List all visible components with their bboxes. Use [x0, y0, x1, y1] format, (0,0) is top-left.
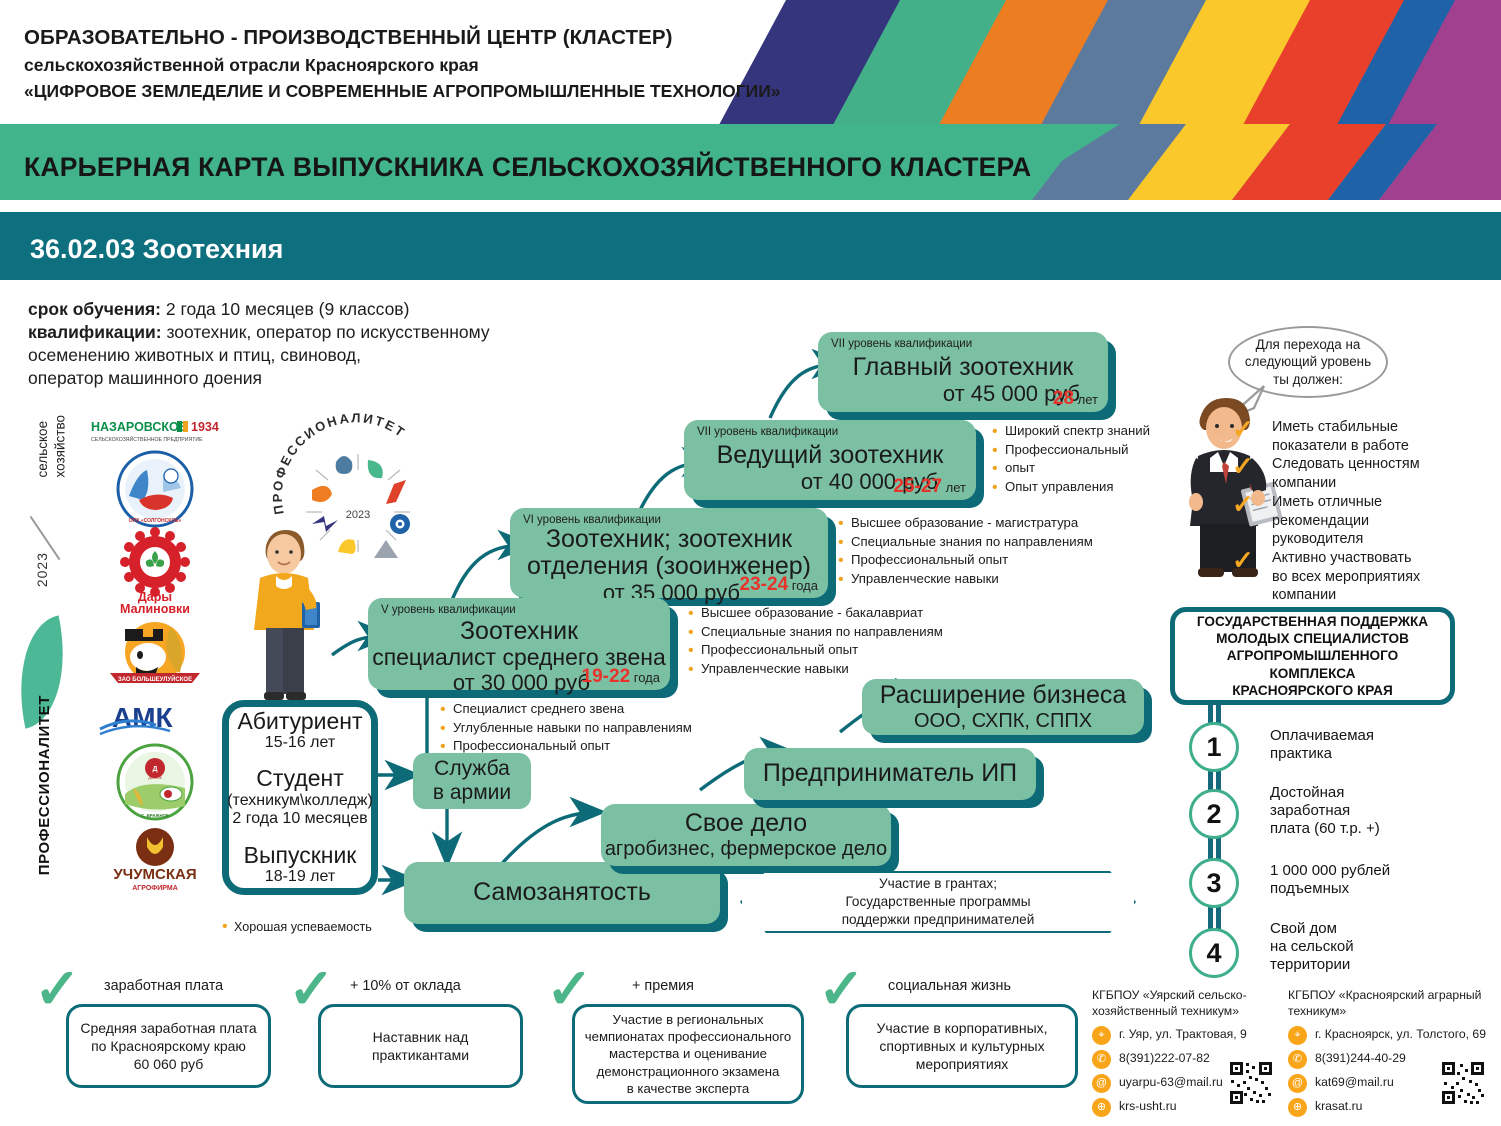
logo-zao-bolsheuluyskoe: ЗАО БОЛЬШЕУЛУЙСКОЕ	[90, 617, 220, 695]
svg-text:Д: Д	[153, 766, 158, 773]
student-path-box[interactable]: Абитуриент 15-16 лет Студент (техникум\к…	[222, 700, 378, 895]
partner-logos-list: НАЗАРОВСКОЕ 1934 СЕЛЬСКОХОЗЯЙСТВЕННОЕ ПР…	[90, 415, 220, 897]
job-title: Зоотехник	[368, 618, 670, 645]
applicant-title: Абитуриент	[237, 709, 362, 734]
contact-address-row: ⌖ г. Уяр, ул. Трактовая, 9	[1092, 1026, 1282, 1045]
benefit-box-3[interactable]: Участие в региональных чемпионатах профе…	[572, 1004, 804, 1104]
contact-address-row: ⌖ г. Красноярск, ул. Толстого, 69	[1288, 1026, 1494, 1045]
bullet-item: Специальные знания по направлениям	[688, 623, 958, 642]
qualifications-line-3: оператор машинного доения	[28, 367, 708, 390]
benefit-line: по Красноярскому краю	[80, 1037, 256, 1055]
job-age-number: 28	[1053, 388, 1074, 409]
requirement-item: ✓ Следовать ценностям компании	[1272, 455, 1476, 492]
bullet-item: Профессиональный опыт	[838, 551, 1098, 570]
intro-block: срок обучения: 2 года 10 месяцев (9 клас…	[28, 298, 708, 390]
bubble-line-1: Для перехода на	[1245, 336, 1371, 353]
applicant-age: 15-16 лет	[265, 734, 335, 752]
entrepreneur-box[interactable]: Предприниматель ИП	[744, 748, 1036, 800]
check-icon: ✓	[1232, 416, 1254, 442]
career-box-glavnyj-zootehnik[interactable]: VII уровень квалификации Главный зоотехн…	[818, 332, 1108, 412]
gov-item-number-3: 3	[1189, 858, 1239, 908]
svg-text:АГРОФИРМА: АГРОФИРМА	[132, 885, 178, 892]
benefit-line: мероприятиях	[876, 1055, 1047, 1073]
header-line-2: сельскохозяйственной отрасли Красноярско…	[24, 55, 1044, 76]
qr-code-icon-uyar[interactable]	[1228, 1060, 1274, 1106]
benefit-line: в качестве эксперта	[585, 1080, 791, 1097]
own-business-title: Свое дело	[685, 810, 807, 838]
bullet-item: Широкий спектр знаний	[992, 422, 1192, 441]
gov-item-label-1: Оплачиваемая практика	[1270, 727, 1374, 763]
bullet-item: Управленческие навыки	[688, 660, 958, 679]
job-age-number: 23-24	[740, 574, 789, 595]
gov-label-line: подъемных	[1270, 880, 1390, 898]
rail-year-label: 2023	[34, 552, 50, 587]
contact-org-line: КГБПОУ «Красноярский аграрный	[1288, 988, 1494, 1004]
phone-icon: ✆	[1092, 1050, 1111, 1069]
globe-icon: ⊕	[1288, 1098, 1307, 1117]
gov-label-line: территории	[1270, 956, 1354, 974]
requirement-line: Следовать ценностям	[1272, 455, 1476, 474]
expansion-subtitle: ООО, СХПК, СППХ	[914, 710, 1092, 732]
gov-item-number-2: 2	[1189, 789, 1239, 839]
bullet-item-cont: опыт	[992, 459, 1192, 478]
contact-address: г. Красноярск, ул. Толстого, 69	[1315, 1027, 1486, 1043]
svg-text:УЧУМСКАЯ: УЧУМСКАЯ	[113, 866, 196, 883]
contact-site: krs-usht.ru	[1119, 1099, 1177, 1115]
number-value: 2	[1206, 799, 1221, 830]
svg-text:СЕЛЬСКОХОЗЯЙСТВЕННОЕ ПРЕДПРИЯТ: СЕЛЬСКОХОЗЯЙСТВЕННОЕ ПРЕДПРИЯТИЕ	[91, 435, 203, 443]
benefit-box-4[interactable]: Участие в корпоративных, спортивных и ку…	[846, 1004, 1078, 1088]
gov-label-line: на сельской	[1270, 938, 1354, 956]
own-business-subtitle: агробизнес, фермерское дело	[605, 838, 887, 860]
job-age-unit: лет	[946, 480, 966, 495]
requirement-line: Иметь стабильные	[1272, 418, 1476, 437]
header-title-block: ОБРАЗОВАТЕЛЬНО - ПРОИЗВОДСТВЕННЫЙ ЦЕНТР …	[24, 26, 1044, 102]
requirement-line: рекомендации	[1272, 512, 1476, 531]
logo-uchumskaya-agrofirma: УЧУМСКАЯ АГРОФИРМА	[90, 823, 220, 897]
qualifications-line-1: зоотехник, оператор по искусственному	[166, 322, 489, 342]
check-icon: ✓	[1232, 547, 1254, 573]
benefit-caption-4: социальная жизнь	[888, 978, 1011, 994]
prof-circle-year: 2023	[346, 509, 370, 521]
student-duration: 2 года 10 месяцев	[232, 810, 367, 828]
benefit-line: Участие в корпоративных,	[876, 1019, 1047, 1037]
gov-label-line: Оплачиваемая	[1270, 727, 1374, 745]
graduate-age: 18-19 лет	[265, 868, 335, 886]
logo-amk: АМК	[90, 695, 220, 741]
requirement-line: компании	[1272, 586, 1476, 605]
career-map-title: КАРЬЕРНАЯ КАРТА ВЫПУСКНИКА СЕЛЬСКОХОЗЯЙС…	[24, 152, 1031, 183]
student-institution: (техникум\колледж)	[227, 792, 373, 810]
bullet-item: Управленческие навыки	[838, 570, 1098, 589]
gov-label-line: плата (60 т.р. +)	[1270, 820, 1380, 838]
job-age: 19-22 года	[582, 666, 660, 688]
benefit-line: практикантами	[372, 1046, 469, 1064]
gov-label-line: Достойная	[1270, 784, 1380, 802]
benefit-line: демонстрационного экзамена	[585, 1063, 791, 1080]
header-line-3: «ЦИФРОВОЕ ЗЕМЛЕДЕЛИЕ И СОВРЕМЕННЫЕ АГРОП…	[24, 81, 1044, 102]
own-business-box[interactable]: Свое дело агробизнес, фермерское дело	[601, 804, 891, 866]
job-age-unit: года	[634, 670, 660, 685]
bullets-vedushchij-zootehnik: Высшее образование - магистратура Специа…	[838, 514, 1098, 589]
at-sign-icon: @	[1092, 1074, 1111, 1093]
gov-item-label-3: 1 000 000 рублей подъемных	[1270, 862, 1390, 898]
benefit-line: Средняя заработная плата	[80, 1019, 256, 1037]
gov-label-line: заработная	[1270, 802, 1380, 820]
army-line-2: в армии	[433, 781, 511, 805]
gov-title-line: МОЛОДЫХ СПЕЦИАЛИСТОВ	[1197, 630, 1428, 647]
gov-item-number-4: 4	[1189, 928, 1239, 978]
contact-phone: 8(391)222-07-82	[1119, 1051, 1210, 1067]
benefit-caption-1: заработная плата	[104, 978, 223, 994]
bullet-item: Специальные знания по направлениям	[838, 533, 1098, 552]
army-service-box[interactable]: Служба в армии	[413, 753, 531, 809]
job-age-unit: лет	[1078, 392, 1098, 407]
grants-line-1: Участие в грантах;	[842, 875, 1035, 893]
number-value: 3	[1206, 868, 1221, 899]
location-pin-icon: ⌖	[1092, 1026, 1111, 1045]
business-expansion-box[interactable]: Расширение бизнеса ООО, СХПК, СППХ	[862, 679, 1144, 735]
benefit-line: Наставник над	[372, 1028, 469, 1046]
requirement-line: во всех мероприятиях	[1272, 568, 1476, 587]
bullets-glavnyj-zootehnik: Широкий спектр знаний Профессиональный о…	[992, 422, 1192, 497]
requirement-line: Иметь отличные	[1272, 493, 1476, 512]
gov-title-line: ГОСУДАРСТВЕННАЯ ПОДДЕРЖКА	[1197, 613, 1428, 630]
student-title: Студент	[256, 766, 344, 791]
agriculture-vertical-label: сельскоехозяйство	[34, 415, 69, 477]
svg-text:С. БРАЖНОЕ: С. БРАЖНОЕ	[141, 813, 169, 818]
bullets-zootehnik-otdeleniya: Высшее образование - бакалавриат Специал…	[688, 604, 958, 679]
contact-site: krasat.ru	[1315, 1099, 1362, 1115]
svg-text:ОПХ «СОЛГОНСКОЕ»: ОПХ «СОЛГОНСКОЕ»	[129, 518, 182, 524]
bullet-item: Профессиональный опыт	[688, 641, 958, 660]
benefit-box-1[interactable]: Средняя заработная плата по Красноярском…	[66, 1004, 271, 1088]
phone-icon: ✆	[1288, 1050, 1307, 1069]
bullet-item: Высшее образование - бакалавриат	[688, 604, 958, 623]
check-icon: ✓	[1232, 453, 1254, 479]
requirement-line: руководителя	[1272, 530, 1476, 549]
job-title: Ведущий зоотехник	[684, 442, 976, 469]
job-title: Главный зоотехник	[818, 354, 1108, 381]
location-pin-icon: ⌖	[1288, 1026, 1307, 1045]
professionalitet-vertical-label: ПРОФЕССИОНАЛИТЕТ	[36, 695, 53, 875]
career-box-vedushchij-zootehnik[interactable]: VII уровень квалификации Ведущий зоотехн…	[684, 420, 976, 500]
grants-programs-box[interactable]: Участие в грантах; Государственные прогр…	[740, 871, 1136, 933]
benefit-box-2[interactable]: Наставник над практикантами	[318, 1004, 523, 1088]
bullets-zootehnik-specialist: Специалист среднего звена Углубленные на…	[440, 700, 720, 756]
requirement-item: ✓ Иметь стабильные показатели в работе	[1272, 418, 1476, 455]
grants-line-3: поддержки предпринимателей	[842, 911, 1035, 929]
number-value: 1	[1206, 732, 1221, 763]
logo-dary-malinovki: Дары Малиновки	[90, 529, 220, 617]
bullet-item: Опыт управления	[992, 478, 1192, 497]
benefit-line: 60 060 руб	[80, 1055, 256, 1073]
gov-label-line: практика	[1270, 745, 1374, 763]
bullet-item: Специалист среднего звена	[440, 700, 720, 719]
level-label: VII уровень квалификации	[697, 426, 838, 438]
self-employment-label: Самозанятость	[473, 879, 651, 907]
job-age: 28 лет	[1053, 388, 1098, 410]
bullet-item: Профессиональный	[992, 441, 1192, 460]
benefit-caption-3: + премия	[632, 978, 694, 994]
qualifications-line-2: осеменению животных и птиц, свиновод,	[28, 344, 708, 367]
requirement-item: ✓ Активно участвовать во всех мероприяти…	[1272, 549, 1476, 605]
expansion-title: Расширение бизнеса	[880, 682, 1127, 710]
level-label: VII уровень квалификации	[831, 338, 972, 350]
graduate-title: Выпускник	[244, 843, 357, 868]
contact-email: kat69@mail.ru	[1315, 1075, 1394, 1091]
benefit-caption-2: + 10% от оклада	[350, 978, 461, 994]
svg-text:ДЫМОК: ДЫМОК	[148, 776, 162, 780]
job-age: 23-24 года	[740, 574, 818, 596]
student-illustration	[236, 520, 332, 710]
benefit-line: чемпионатах профессионального	[585, 1028, 791, 1045]
benefit-line: спортивных и культурных	[876, 1037, 1047, 1055]
bullet-item: Углубленные навыки по направлениям	[440, 719, 720, 738]
svg-text:ЗАО БОЛЬШЕУЛУЙСКОЕ: ЗАО БОЛЬШЕУЛУЙСКОЕ	[118, 675, 192, 683]
gov-support-title-box: ГОСУДАРСТВЕННАЯ ПОДДЕРЖКА МОЛОДЫХ СПЕЦИА…	[1170, 607, 1455, 705]
contact-org-line: хозяйственный техникум»	[1092, 1004, 1282, 1020]
qualifications-label: квалификации:	[28, 322, 162, 342]
self-employment-box[interactable]: Самозанятость	[404, 862, 720, 924]
contact-org-line: техникум»	[1288, 1004, 1494, 1020]
gov-label-line: Свой дом	[1270, 920, 1354, 938]
term-label: срок обучения:	[28, 299, 161, 319]
at-sign-icon: @	[1288, 1074, 1307, 1093]
svg-text:1934: 1934	[191, 420, 219, 434]
svg-text:Малиновки: Малиновки	[120, 602, 190, 616]
logo-opkh-solgonskoe: ОПХ «СОЛГОНСКОЕ»	[90, 449, 220, 529]
term-value: 2 года 10 месяцев (9 классов)	[166, 299, 410, 319]
job-age: 25-27 лет	[893, 476, 966, 498]
job-age-number: 25-27	[893, 476, 942, 497]
job-title-line-1: Зоотехник; зоотехник	[510, 526, 828, 553]
contact-org-line: КГБПОУ «Уярский сельско-	[1092, 988, 1282, 1004]
grants-line-2: Государственные программы	[842, 893, 1035, 911]
program-code-title: 36.02.03 Зоотехния	[30, 234, 283, 265]
svg-text:НАЗАРОВСКОЕ: НАЗАРОВСКОЕ	[91, 420, 187, 434]
requirement-line: компании	[1272, 474, 1476, 493]
header-line-1: ОБРАЗОВАТЕЛЬНО - ПРОИЗВОДСТВЕННЫЙ ЦЕНТР …	[24, 26, 1044, 50]
contact-address: г. Уяр, ул. Трактовая, 9	[1119, 1027, 1247, 1043]
logo-uyarskaya-stanciya: Д ДЫМОК С. БРАЖНОЕ	[90, 741, 220, 823]
requirement-item: ✓ Иметь отличные рекомендации руководите…	[1272, 493, 1476, 549]
gov-label-line: 1 000 000 рублей	[1270, 862, 1390, 880]
career-box-zootehnik-specialist[interactable]: V уровень квалификации Зоотехник специал…	[368, 598, 670, 690]
contact-phone: 8(391)244-40-29	[1315, 1051, 1406, 1067]
logo-nazarovskoe: НАЗАРОВСКОЕ 1934 СЕЛЬСКОХОЗЯЙСТВЕННОЕ ПР…	[90, 415, 220, 449]
army-line-1: Служба	[434, 757, 510, 781]
career-box-zootehnik-otdeleniya[interactable]: VI уровень квалификации Зоотехник; зооте…	[510, 508, 828, 598]
check-icon: ✓	[1232, 491, 1254, 517]
contact-email: uyarpu-63@mail.ru	[1119, 1075, 1223, 1091]
advisor-requirements-list: ✓ Иметь стабильные показатели в работе ✓…	[1272, 418, 1476, 605]
gov-item-label-2: Достойная заработная плата (60 т.р. +)	[1270, 784, 1380, 838]
gov-item-label-4: Свой дом на сельской территории	[1270, 920, 1354, 974]
gov-item-number-1: 1	[1189, 722, 1239, 772]
benefit-line: мастерства и оценивание	[585, 1045, 791, 1062]
requirement-line: показатели в работе	[1272, 437, 1476, 456]
gov-title-line: АГРОПРОМЫШЛЕННОГО	[1197, 647, 1428, 664]
gov-title-line: КРАСНОЯРСКОГО КРАЯ	[1197, 682, 1428, 699]
bubble-line-2: следующий уровень	[1245, 353, 1371, 370]
requirement-line: Активно участвовать	[1272, 549, 1476, 568]
number-value: 4	[1206, 938, 1221, 969]
gov-title-line: КОМПЛЕКСА	[1197, 665, 1428, 682]
job-age-number: 19-22	[582, 666, 631, 687]
good-performance-note: Хорошая успеваемость	[222, 920, 372, 934]
benefit-line: Участие в региональных	[585, 1011, 791, 1028]
bullet-item: Высшее образование - магистратура	[838, 514, 1098, 533]
qr-code-icon-krasnoyarsk[interactable]	[1440, 1060, 1486, 1106]
globe-icon: ⊕	[1092, 1098, 1111, 1117]
job-age-unit: года	[792, 578, 818, 593]
entrepreneur-label: Предприниматель ИП	[763, 760, 1017, 788]
level-label: V уровень квалификации	[381, 604, 516, 616]
